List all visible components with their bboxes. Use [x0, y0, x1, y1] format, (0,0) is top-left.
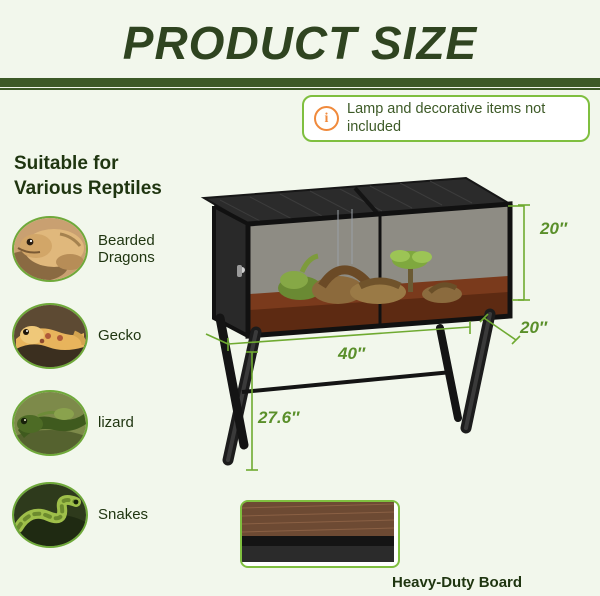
dimension-stand-height: 27.6″ [258, 408, 299, 428]
product-size-infographic: PRODUCT SIZE i Lamp and decorative items… [0, 0, 600, 596]
dimension-height: 20″ [540, 219, 567, 239]
dimension-depth: 20″ [520, 318, 547, 338]
board-callout [240, 500, 400, 568]
board-caption: Heavy-Duty Board [392, 574, 522, 591]
dimension-width: 40″ [338, 344, 365, 364]
